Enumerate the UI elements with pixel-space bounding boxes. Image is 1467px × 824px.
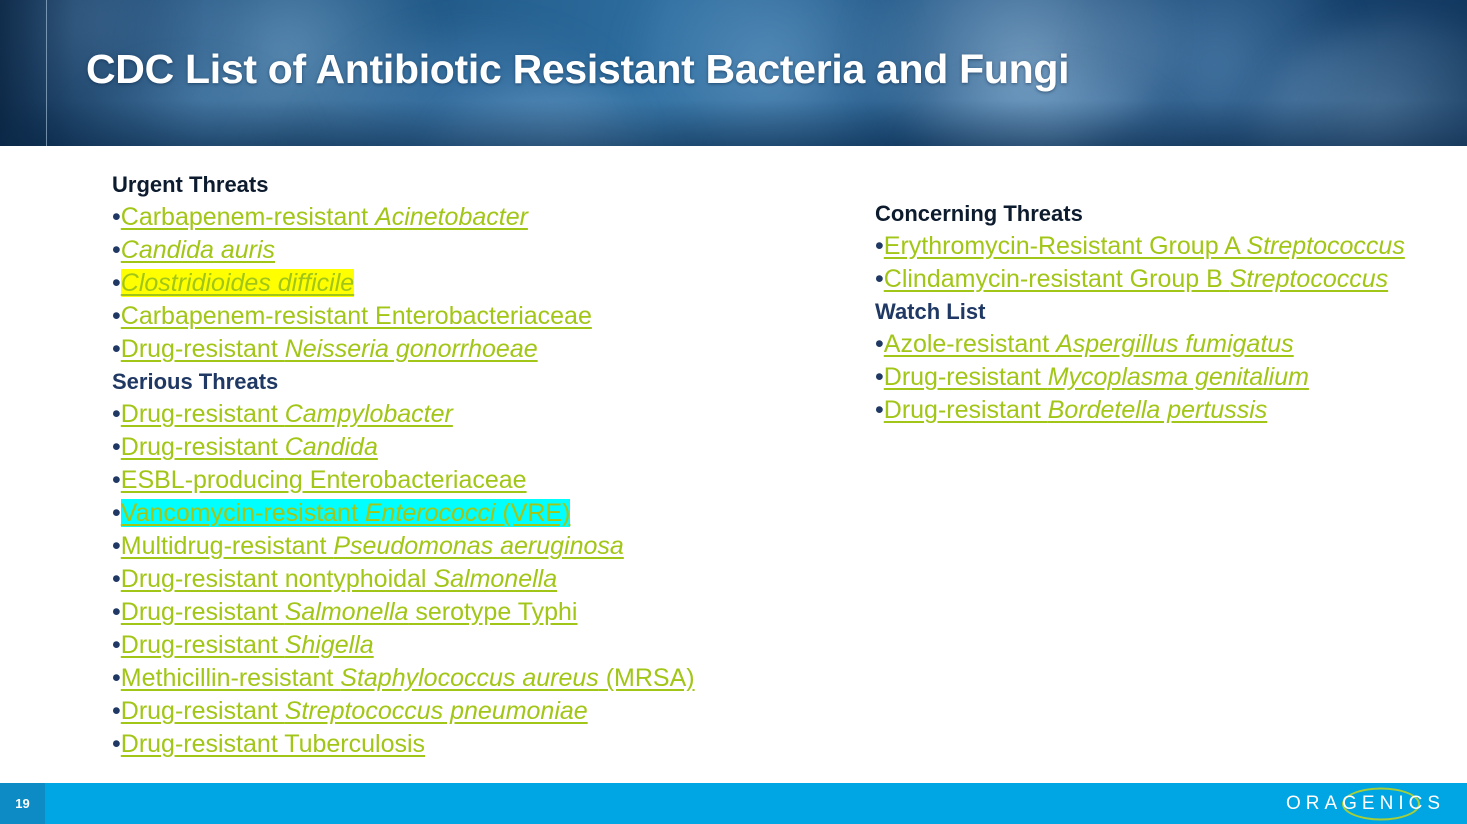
threat-link[interactable]: Candida auris bbox=[121, 236, 275, 264]
organism-name-italic: Streptococcus bbox=[1246, 232, 1404, 260]
slide-header: CDC List of Antibiotic Resistant Bacteri… bbox=[0, 0, 1467, 146]
bullet-icon: • bbox=[112, 598, 121, 626]
bullet-icon: • bbox=[875, 396, 884, 424]
threat-prefix-text: Carbapenem-resistant bbox=[121, 203, 375, 231]
threat-prefix-text: Drug-resistant bbox=[121, 598, 285, 626]
organism-name-italic: Campylobacter bbox=[285, 400, 453, 428]
bullet-icon: • bbox=[875, 265, 884, 293]
threat-link[interactable]: Drug-resistant Mycoplasma genitalium bbox=[884, 363, 1309, 391]
threat-prefix-text: Drug-resistant bbox=[121, 400, 285, 428]
organism-name-italic: Enterococci bbox=[365, 499, 496, 527]
threat-link[interactable]: Drug-resistant Campylobacter bbox=[121, 400, 453, 428]
threat-link[interactable]: Drug-resistant Tuberculosis bbox=[121, 730, 425, 758]
threat-link[interactable]: Vancomycin-resistant Enterococci (VRE) bbox=[121, 499, 571, 527]
organism-name-italic: Staphylococcus aureus bbox=[340, 664, 598, 692]
threat-prefix-text: Carbapenem-resistant Enterobacteriaceae bbox=[121, 302, 592, 330]
bullet-icon: • bbox=[875, 330, 884, 358]
threat-list-item[interactable]: •Drug-resistant Salmonella serotype Typh… bbox=[112, 596, 752, 629]
threat-list-item[interactable]: •Drug-resistant nontyphoidal Salmonella bbox=[112, 563, 752, 596]
threat-prefix-text: Multidrug-resistant bbox=[121, 532, 334, 560]
threat-list-item[interactable]: •Drug-resistant Tuberculosis bbox=[112, 728, 752, 761]
threat-list-item[interactable]: •Clostridioides difficile bbox=[112, 267, 752, 300]
threat-link[interactable]: Multidrug-resistant Pseudomonas aerugino… bbox=[121, 532, 624, 560]
threat-list-item[interactable]: •Drug-resistant Candida bbox=[112, 431, 752, 464]
oragenics-logo: ORAGENICS bbox=[1286, 783, 1445, 824]
threat-list-item[interactable]: •Drug-resistant Mycoplasma genitalium bbox=[875, 361, 1435, 394]
page-title: CDC List of Antibiotic Resistant Bacteri… bbox=[86, 46, 1069, 93]
bullet-icon: • bbox=[112, 631, 121, 659]
threat-prefix-text: Drug-resistant nontyphoidal bbox=[121, 565, 434, 593]
header-divider-line bbox=[46, 0, 47, 146]
organism-name-italic: Clostridioides difficile bbox=[121, 269, 354, 297]
threat-list-item[interactable]: •Multidrug-resistant Pseudomonas aerugin… bbox=[112, 530, 752, 563]
threat-link[interactable]: Drug-resistant Candida bbox=[121, 433, 378, 461]
organism-name-italic: Candida auris bbox=[121, 236, 275, 264]
bullet-icon: • bbox=[112, 203, 121, 231]
bullet-icon: • bbox=[112, 565, 121, 593]
threat-list-item[interactable]: •Candida auris bbox=[112, 234, 752, 267]
bullet-icon: • bbox=[112, 302, 121, 330]
section-heading: Concerning Threats bbox=[875, 198, 1435, 230]
threat-suffix-text: serotype Typhi bbox=[408, 598, 577, 626]
threat-suffix-text: (VRE) bbox=[495, 499, 570, 527]
threat-prefix-text: Clindamycin-resistant Group B bbox=[884, 265, 1230, 293]
organism-name-italic: Neisseria gonorrhoeae bbox=[285, 335, 538, 363]
bullet-icon: • bbox=[112, 400, 121, 428]
threat-link[interactable]: Clostridioides difficile bbox=[121, 269, 354, 297]
threat-link[interactable]: Azole-resistant Aspergillus fumigatus bbox=[884, 330, 1294, 358]
threat-prefix-text: ESBL-producing Enterobacteriaceae bbox=[121, 466, 527, 494]
bullet-icon: • bbox=[112, 532, 121, 560]
threat-prefix-text: Drug-resistant bbox=[884, 363, 1048, 391]
page-number: 19 bbox=[0, 783, 45, 824]
threat-link[interactable]: Clindamycin-resistant Group B Streptococ… bbox=[884, 265, 1388, 293]
threat-prefix-text: Drug-resistant Tuberculosis bbox=[121, 730, 425, 758]
section-heading: Urgent Threats bbox=[112, 169, 752, 201]
threat-prefix-text: Erythromycin-Resistant Group A bbox=[884, 232, 1247, 260]
threat-link[interactable]: Carbapenem-resistant Acinetobacter bbox=[121, 203, 528, 231]
threat-link[interactable]: Drug-resistant Streptococcus pneumoniae bbox=[121, 697, 588, 725]
organism-name-italic: Salmonella bbox=[285, 598, 409, 626]
slide-body: Urgent Threats•Carbapenem-resistant Acin… bbox=[0, 146, 1467, 824]
bullet-icon: • bbox=[112, 236, 121, 264]
threat-suffix-text: (MRSA) bbox=[599, 664, 695, 692]
organism-name-italic: Pseudomonas aeruginosa bbox=[333, 532, 623, 560]
threat-prefix-text: Vancomycin-resistant bbox=[121, 499, 365, 527]
concerning-threats-and-watch-list-column: Concerning Threats•Erythromycin-Resistan… bbox=[875, 198, 1435, 427]
bullet-icon: • bbox=[112, 499, 121, 527]
organism-name-italic: Aspergillus fumigatus bbox=[1056, 330, 1294, 358]
threat-list-item[interactable]: •Vancomycin-resistant Enterococci (VRE) bbox=[112, 497, 752, 530]
threat-prefix-text: Drug-resistant bbox=[121, 631, 285, 659]
organism-name-italic: Shigella bbox=[285, 631, 374, 659]
threat-link[interactable]: Drug-resistant Neisseria gonorrhoeae bbox=[121, 335, 538, 363]
threat-link[interactable]: Drug-resistant nontyphoidal Salmonella bbox=[121, 565, 557, 593]
logo-text: ORAGENICS bbox=[1286, 793, 1445, 815]
threat-prefix-text: Drug-resistant bbox=[121, 335, 285, 363]
organism-name-italic: Streptococcus bbox=[1230, 265, 1388, 293]
threat-prefix-text: Drug-resistant bbox=[121, 433, 285, 461]
threat-link[interactable]: Carbapenem-resistant Enterobacteriaceae bbox=[121, 302, 592, 330]
threat-link[interactable]: Methicillin-resistant Staphylococcus aur… bbox=[121, 664, 695, 692]
threat-prefix-text: Azole-resistant bbox=[884, 330, 1056, 358]
organism-name-italic: Acinetobacter bbox=[375, 203, 528, 231]
threat-list-item[interactable]: •Carbapenem-resistant Enterobacteriaceae bbox=[112, 300, 752, 333]
organism-name-italic: Mycoplasma genitalium bbox=[1048, 363, 1309, 391]
threat-prefix-text: Methicillin-resistant bbox=[121, 664, 341, 692]
threat-link[interactable]: Erythromycin-Resistant Group A Streptoco… bbox=[884, 232, 1405, 260]
urgent-and-serious-threats-column: Urgent Threats•Carbapenem-resistant Acin… bbox=[112, 169, 752, 761]
threat-prefix-text: Drug-resistant bbox=[121, 697, 285, 725]
threat-list-item[interactable]: •ESBL-producing Enterobacteriaceae bbox=[112, 464, 752, 497]
threat-prefix-text: Drug-resistant bbox=[884, 396, 1048, 424]
bullet-icon: • bbox=[112, 466, 121, 494]
section-heading: Watch List bbox=[875, 296, 1435, 328]
organism-name-italic: Bordetella pertussis bbox=[1048, 396, 1268, 424]
threat-list-item[interactable]: •Azole-resistant Aspergillus fumigatus bbox=[875, 328, 1435, 361]
bullet-icon: • bbox=[112, 335, 121, 363]
section-heading: Serious Threats bbox=[112, 366, 752, 398]
bullet-icon: • bbox=[112, 433, 121, 461]
bullet-icon: • bbox=[112, 730, 121, 758]
threat-list-item[interactable]: •Erythromycin-Resistant Group A Streptoc… bbox=[875, 230, 1435, 263]
bullet-icon: • bbox=[112, 697, 121, 725]
threat-list-item[interactable]: •Drug-resistant Campylobacter bbox=[112, 398, 752, 431]
bullet-icon: • bbox=[875, 232, 884, 260]
bullet-icon: • bbox=[875, 363, 884, 391]
threat-list-item[interactable]: •Drug-resistant Streptococcus pneumoniae bbox=[112, 695, 752, 728]
threat-link[interactable]: Drug-resistant Salmonella serotype Typhi bbox=[121, 598, 578, 626]
slide-footer: 19 ORAGENICS bbox=[0, 783, 1467, 824]
organism-name-italic: Salmonella bbox=[433, 565, 557, 593]
threat-list-item[interactable]: •Carbapenem-resistant Acinetobacter bbox=[112, 201, 752, 234]
bullet-icon: • bbox=[112, 269, 121, 297]
organism-name-italic: Streptococcus pneumoniae bbox=[285, 697, 588, 725]
threat-link[interactable]: Drug-resistant Shigella bbox=[121, 631, 374, 659]
threat-list-item[interactable]: •Drug-resistant Shigella bbox=[112, 629, 752, 662]
bullet-icon: • bbox=[112, 664, 121, 692]
threat-list-item[interactable]: •Methicillin-resistant Staphylococcus au… bbox=[112, 662, 752, 695]
threat-link[interactable]: ESBL-producing Enterobacteriaceae bbox=[121, 466, 527, 494]
organism-name-italic: Candida bbox=[285, 433, 378, 461]
threat-list-item[interactable]: •Clindamycin-resistant Group B Streptoco… bbox=[875, 263, 1435, 296]
threat-list-item[interactable]: •Drug-resistant Bordetella pertussis bbox=[875, 394, 1435, 427]
threat-link[interactable]: Drug-resistant Bordetella pertussis bbox=[884, 396, 1268, 424]
threat-list-item[interactable]: •Drug-resistant Neisseria gonorrhoeae bbox=[112, 333, 752, 366]
